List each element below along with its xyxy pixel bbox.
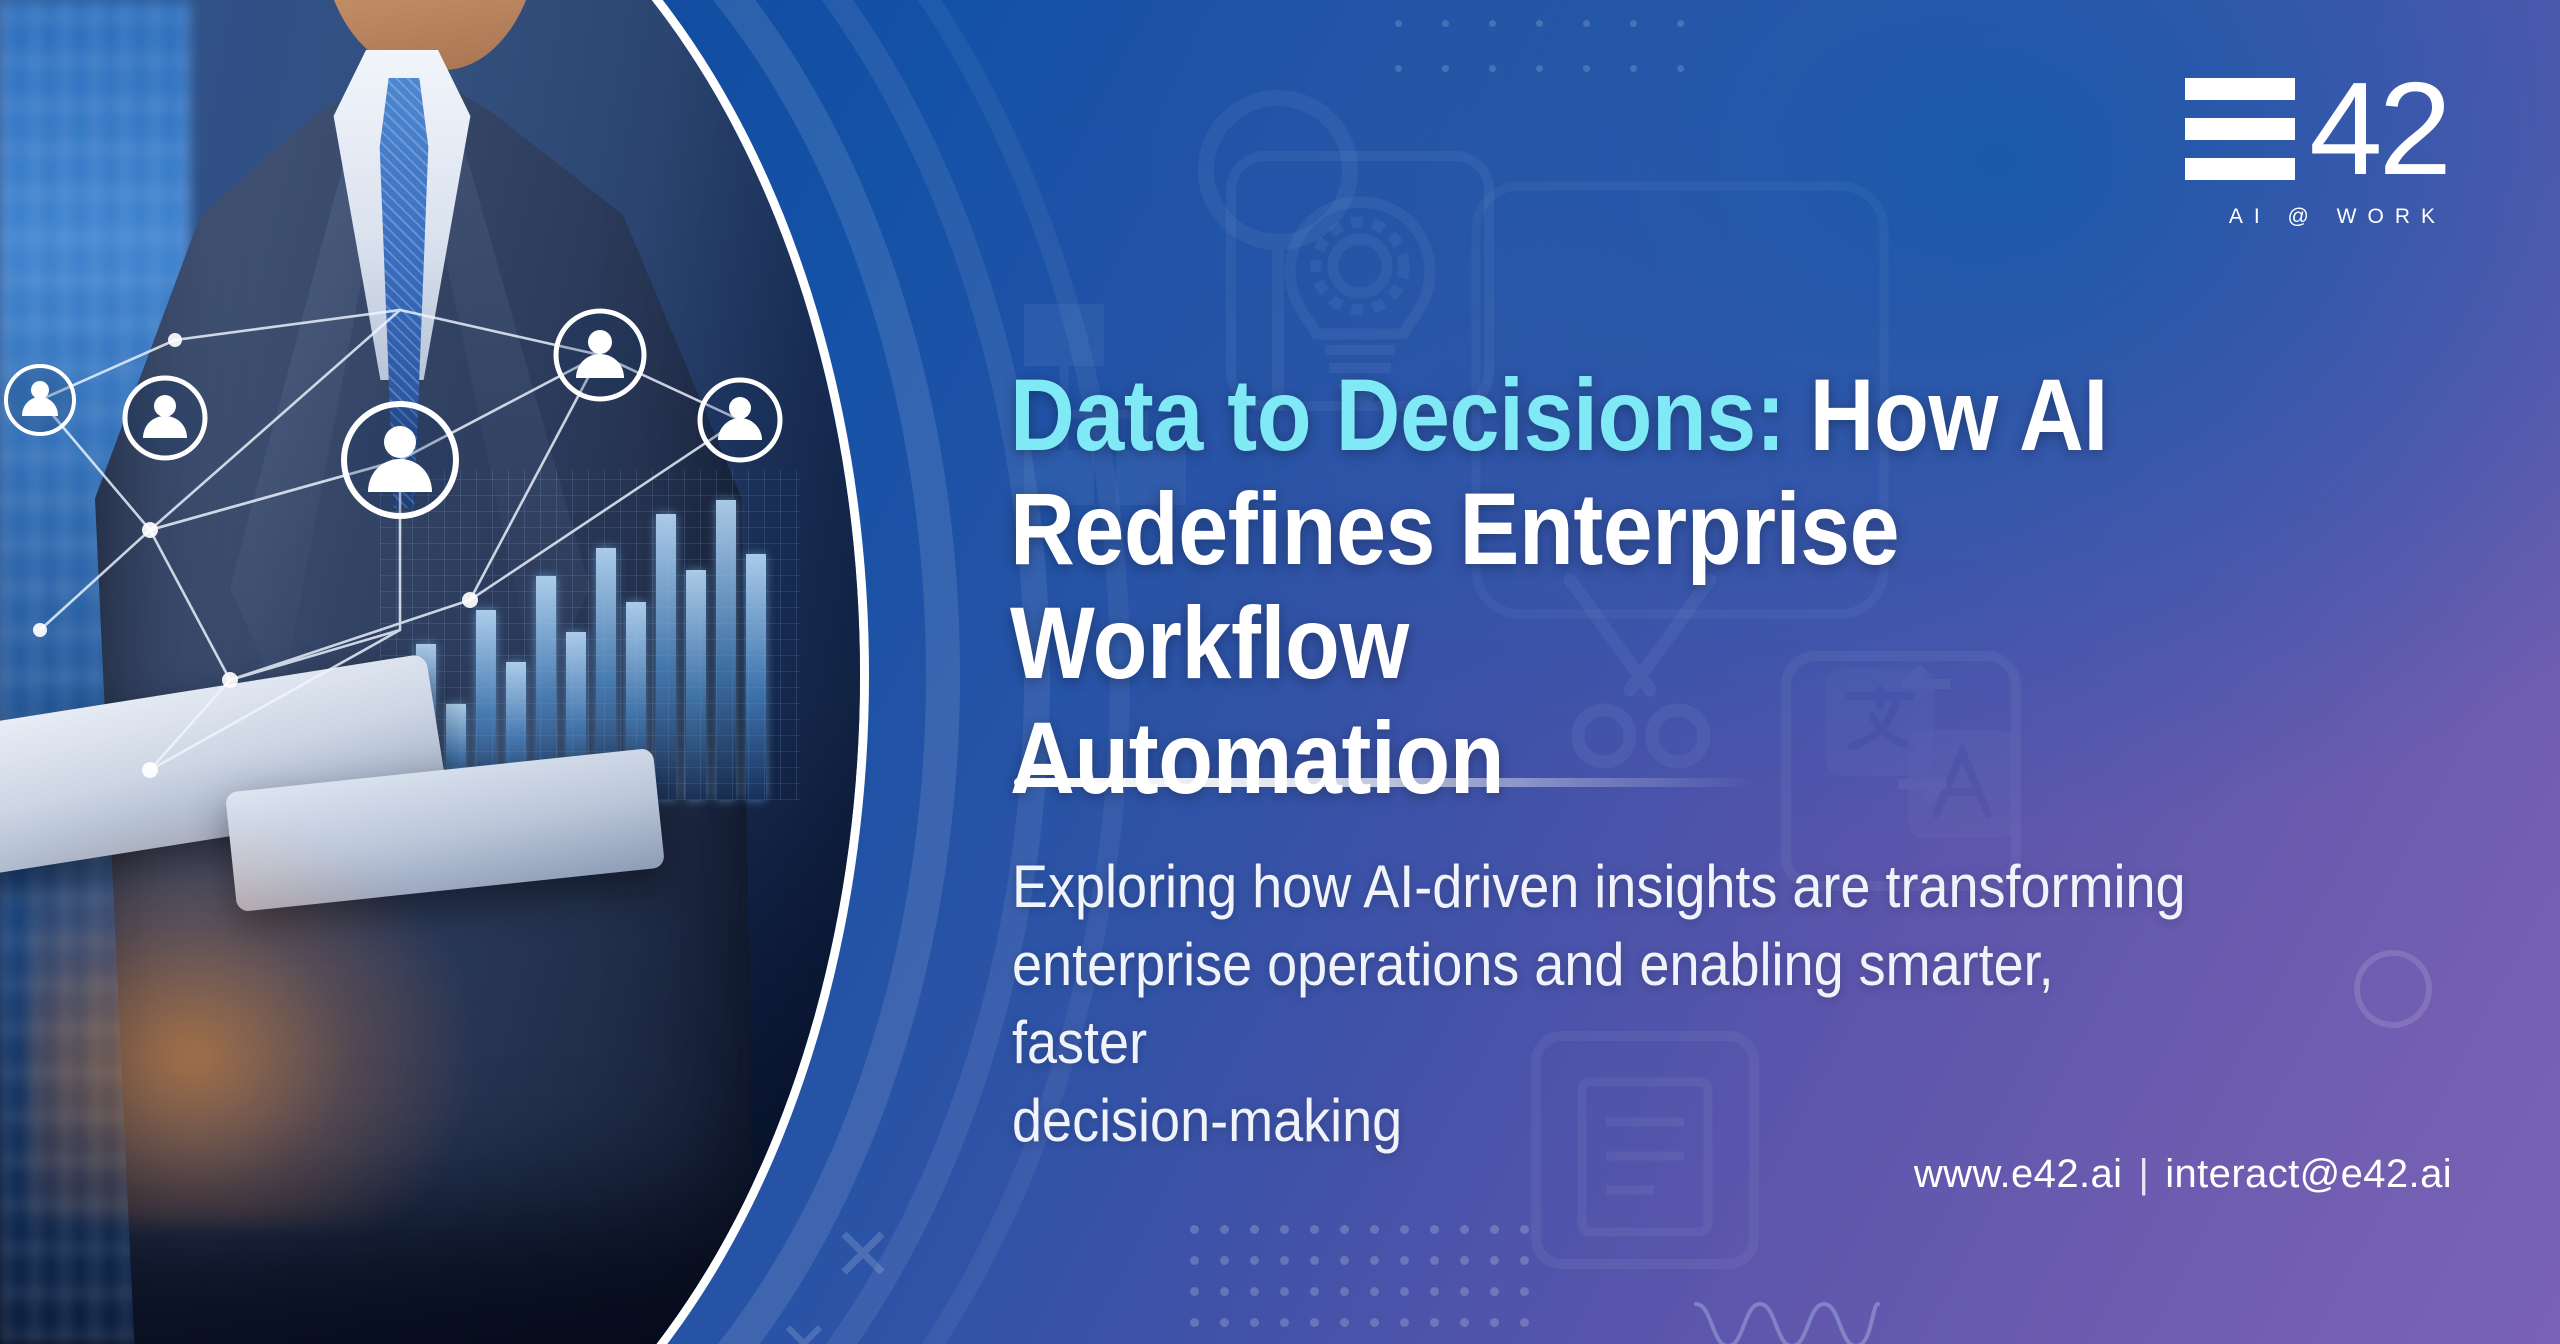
triple-bar-e-icon	[2185, 78, 2295, 180]
warm-glow	[30, 804, 490, 1224]
contact-footer: www.e42.ai|interact@e42.ai	[1914, 1152, 2452, 1197]
subtitle-line2: enterprise operations and enabling smart…	[1012, 931, 2054, 1076]
subtitle-line1: Exploring how AI-driven insights are tra…	[1012, 853, 2186, 920]
network-overlay	[0, 300, 780, 820]
subtitle-line3: decision-making	[1012, 1087, 1402, 1154]
content-column: 42 AI @ WORK Data to Decisions: How AI R…	[1010, 0, 2510, 1344]
headline-line2: Redefines Enterprise Workflow	[1010, 472, 1899, 700]
user-node-icon	[344, 404, 456, 516]
website-link[interactable]: www.e42.ai	[1914, 1152, 2123, 1196]
hero-image	[0, 0, 880, 1344]
brand-logo[interactable]: 42 AI @ WORK	[2185, 68, 2448, 229]
footer-separator: |	[2122, 1152, 2165, 1197]
user-node-icon	[6, 366, 74, 434]
user-node-icon	[125, 378, 205, 458]
user-node-icon	[700, 380, 780, 460]
user-node-icon	[556, 311, 644, 399]
headline-line3: Automation	[1010, 701, 1504, 815]
marketing-banner: ✕ ✕	[0, 0, 2560, 1344]
page-title: Data to Decisions: How AI Redefines Ente…	[1010, 358, 2260, 815]
logo-number: 42	[2309, 68, 2448, 189]
subtitle: Exploring how AI-driven insights are tra…	[1012, 848, 2200, 1160]
headline-rest: How AI	[1785, 358, 2108, 472]
headline-accent: Data to Decisions:	[1010, 358, 1785, 472]
title-divider	[1014, 778, 1754, 787]
email-link[interactable]: interact@e42.ai	[2165, 1152, 2452, 1196]
logo-tagline: AI @ WORK	[2185, 205, 2448, 229]
